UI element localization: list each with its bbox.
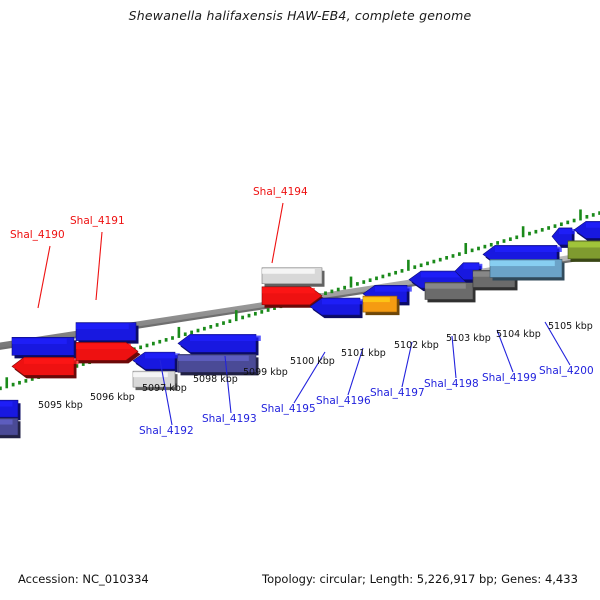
gene-label-shal_4195[interactable]: Shal_4195 (261, 403, 316, 415)
gene-feature[interactable] (425, 282, 476, 302)
gene-label-shal_4197[interactable]: Shal_4197 (370, 387, 425, 399)
gene-label-shal_4198[interactable]: Shal_4198 (424, 378, 479, 390)
gene-feature[interactable] (262, 268, 325, 287)
gene-label-shal_4190[interactable]: Shal_4190 (10, 229, 65, 241)
gene-label-shal_4199[interactable]: Shal_4199 (482, 372, 537, 384)
gene-feature[interactable] (574, 221, 600, 241)
gene-label-shal_4200[interactable]: Shal_4200 (539, 365, 594, 377)
gene-feature[interactable] (0, 418, 21, 438)
ruler-tick-label: 5098 kbp (193, 374, 238, 385)
gene-label-shal_4194[interactable]: Shal_4194 (253, 186, 308, 198)
gene-label-shal_4196[interactable]: Shal_4196 (316, 395, 371, 407)
gene-label-shal_4191[interactable]: Shal_4191 (70, 215, 125, 227)
gene-feature[interactable] (76, 323, 139, 344)
ruler-tick-label: 5103 kbp (446, 333, 491, 344)
ruler-tick-label: 5104 kbp (496, 329, 541, 340)
genome-map[interactable]: Shal_4190Shal_4191Shal_4194Shal_4192Shal… (0, 0, 600, 600)
gene-feature[interactable] (133, 352, 180, 372)
label-leader-line (96, 232, 102, 300)
ruler-tick-label: 5099 kbp (243, 367, 288, 378)
gene-feature[interactable] (490, 259, 565, 280)
gene-feature[interactable] (76, 342, 141, 363)
gene-label-shal_4193[interactable]: Shal_4193 (202, 413, 257, 425)
ruler-tick-label: 5096 kbp (90, 392, 135, 403)
genome-viewer: Shewanella halifaxensis HAW-EB4, complet… (0, 0, 600, 600)
ruler-tick-label: 5101 kbp (341, 348, 386, 359)
gene-feature[interactable] (363, 296, 400, 315)
ruler-tick-label: 5095 kbp (38, 400, 83, 411)
accession-text: Accession: NC_010334 (18, 572, 149, 586)
genome-stats-text: Topology: circular; Length: 5,226,917 bp… (262, 572, 578, 586)
label-leader-line (38, 246, 50, 308)
ruler-tick-label: 5097 kbp (142, 383, 187, 394)
gene-feature[interactable] (568, 241, 600, 262)
ruler-tick-label: 5105 kbp (548, 321, 593, 332)
gene-feature[interactable] (310, 298, 365, 318)
ruler-tick-label: 5102 kbp (394, 340, 439, 351)
gene-feature[interactable] (0, 400, 21, 420)
label-leader-line (272, 203, 283, 263)
gene-feature[interactable] (178, 334, 261, 355)
gene-feature[interactable] (12, 357, 79, 378)
ruler-tick-label: 5100 kbp (290, 356, 335, 367)
gene-label-shal_4192[interactable]: Shal_4192 (139, 425, 194, 437)
gene-feature[interactable] (12, 337, 77, 358)
